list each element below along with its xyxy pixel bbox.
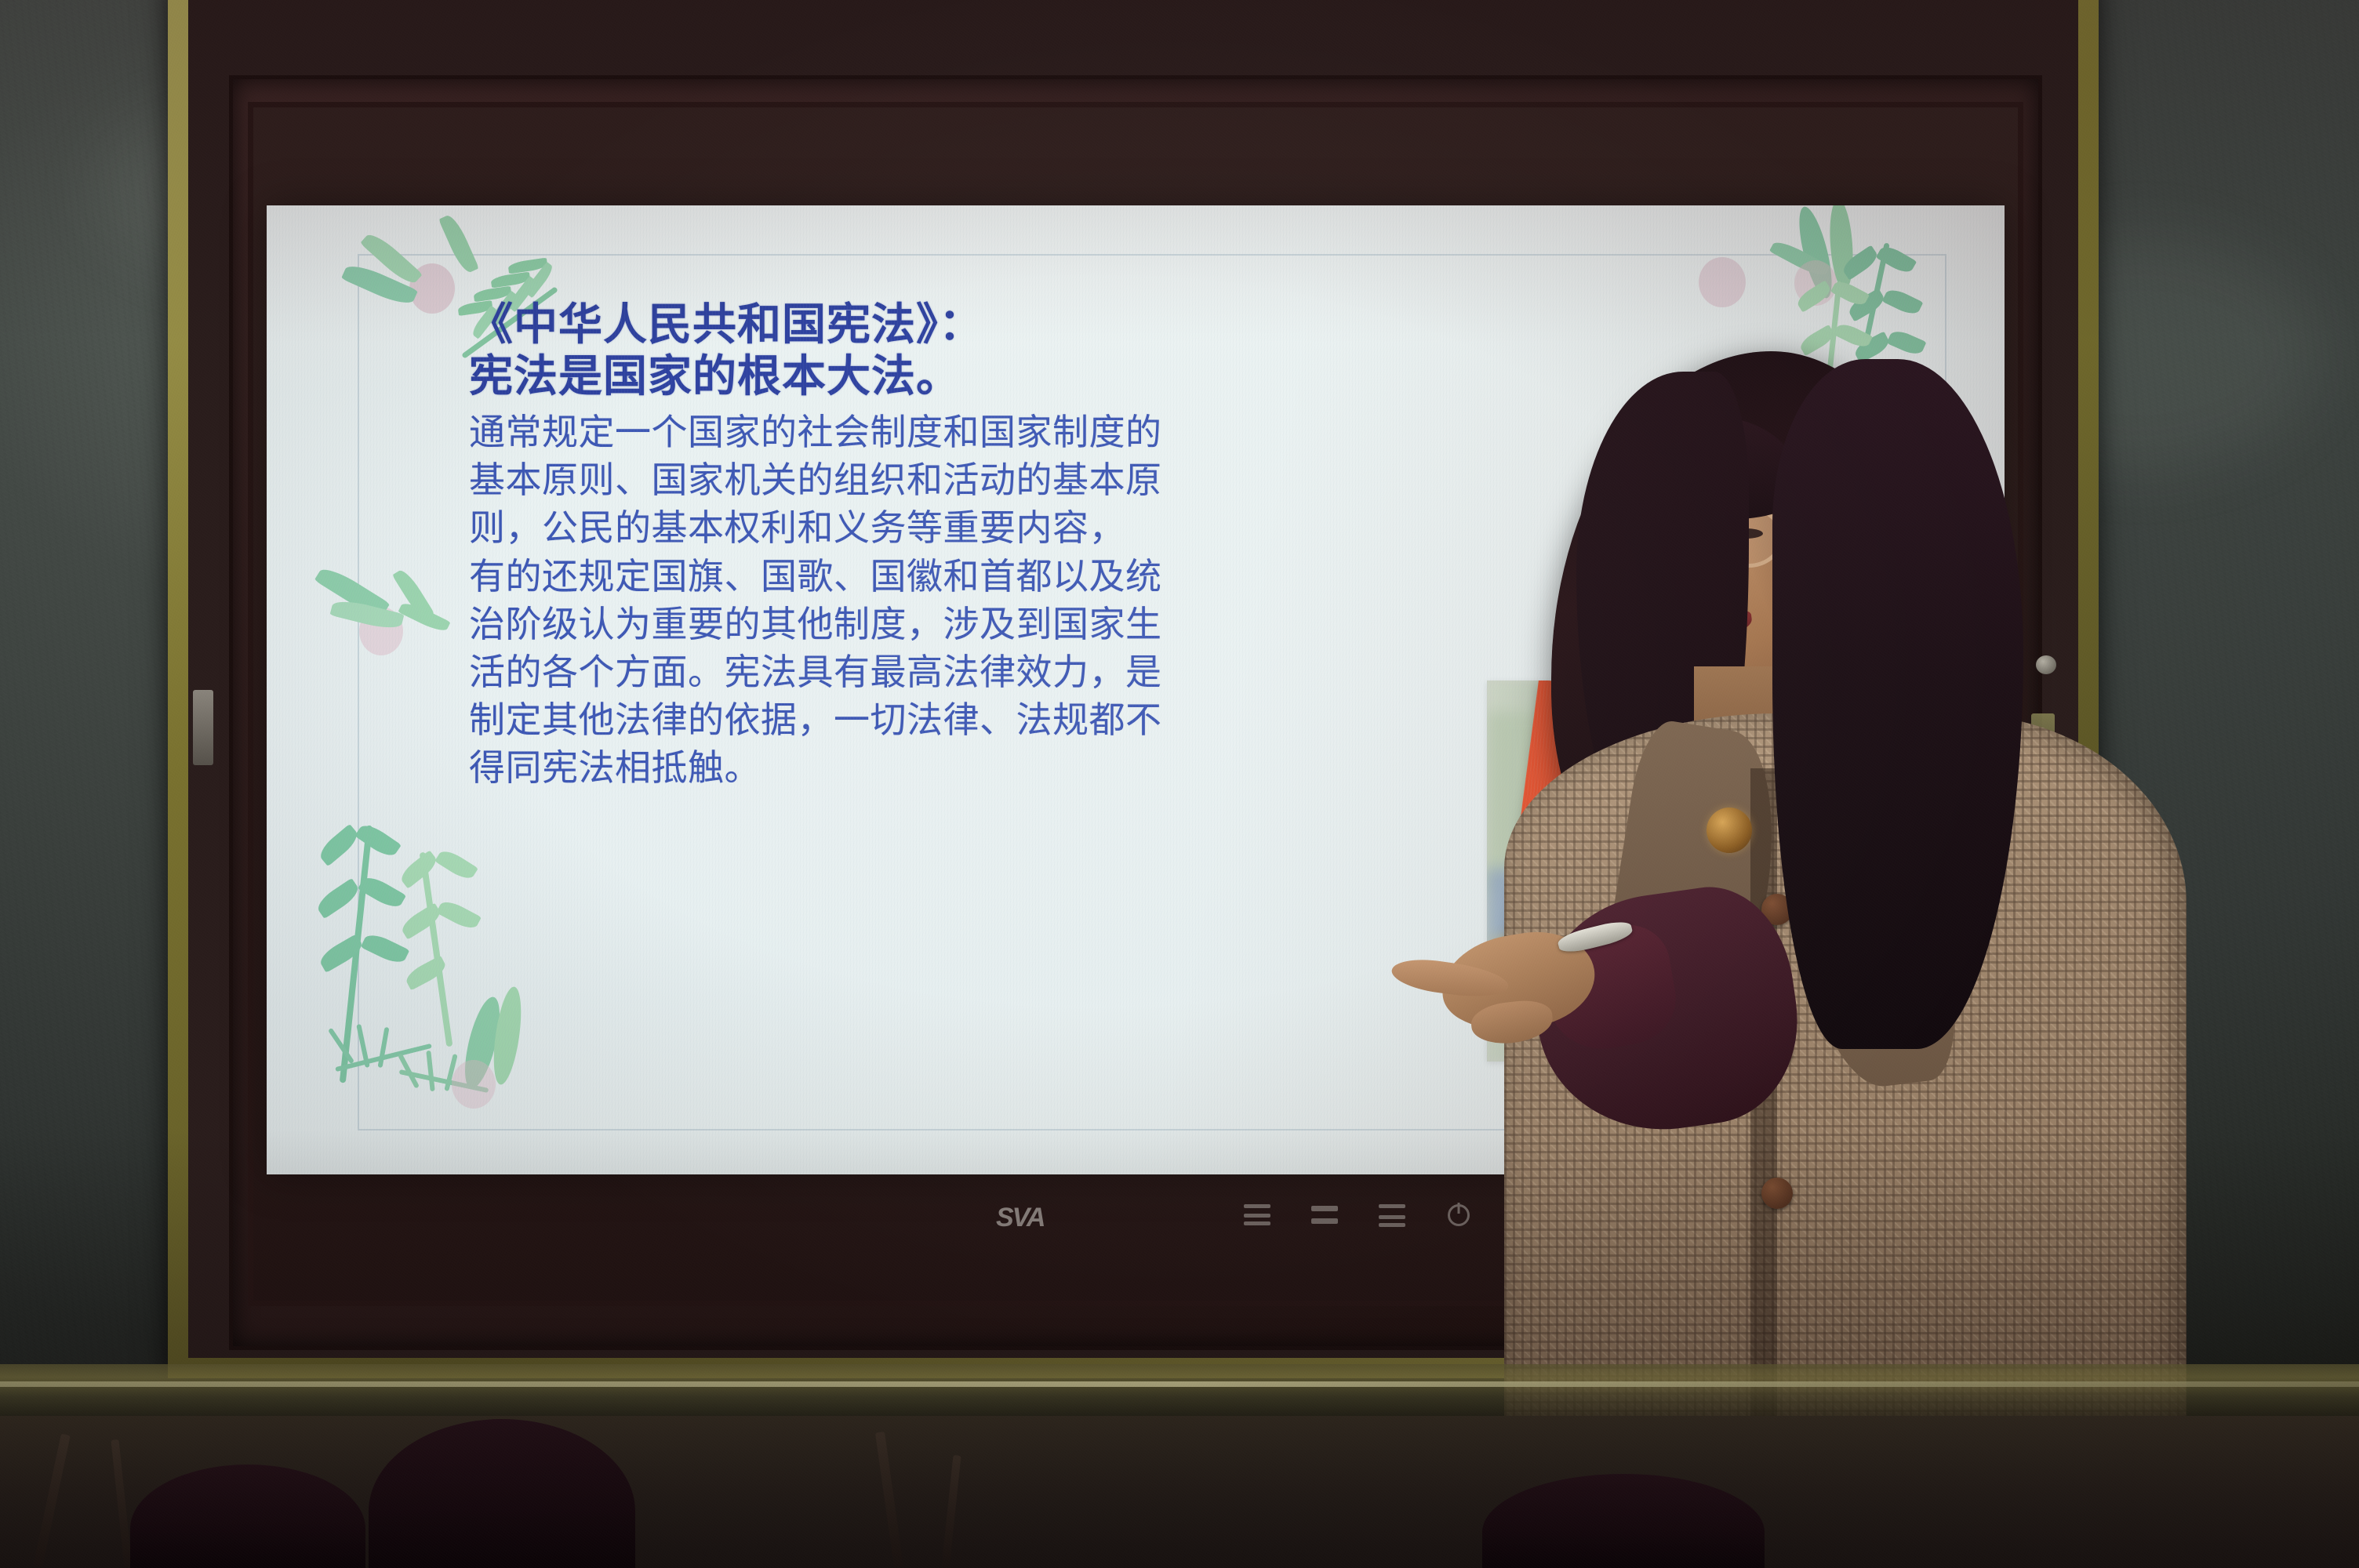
slide-paragraph-1: 通常规定一个国家的社会制度和国家制度的基本原则、国家机关的组织和活动的基本原则，… — [469, 408, 1175, 553]
slide-paragraph-2: 有的还规定国旗、国歌、国徽和首都以及统治阶级认为重要的其他制度，涉及到国家生活的… — [469, 553, 1175, 793]
slide-title-line-1: 《中华人民共和国宪法》： — [469, 299, 1175, 351]
power-button[interactable] — [1448, 1204, 1470, 1226]
volume-button[interactable] — [1379, 1204, 1405, 1226]
chalk-ledge-highlight — [0, 1381, 2359, 1387]
coat-brooch — [1707, 808, 1752, 853]
sva-brand-logo: SVA — [996, 1203, 1044, 1233]
display-control-strip: SVA — [871, 1192, 1498, 1247]
source-button[interactable] — [1311, 1204, 1338, 1226]
classroom-scene: 《中华人民共和国宪法》： 宪法是国家的根本大法。 通常规定一个国家的社会制度和国… — [0, 0, 2359, 1568]
coat-button — [1761, 1178, 1793, 1209]
slide-body: 通常规定一个国家的社会制度和国家制度的基本原则、国家机关的组织和活动的基本原则，… — [469, 408, 1175, 792]
slide-title-line-2: 宪法是国家的根本大法。 — [469, 351, 1175, 403]
slide-text-block: 《中华人民共和国宪法》： 宪法是国家的根本大法。 通常规定一个国家的社会制度和国… — [469, 299, 1175, 792]
chalk-ledge — [0, 1364, 2359, 1419]
hair-strand-right — [1772, 359, 2023, 1049]
menu-button[interactable] — [1244, 1204, 1270, 1226]
frame-bracket-left — [193, 690, 213, 765]
